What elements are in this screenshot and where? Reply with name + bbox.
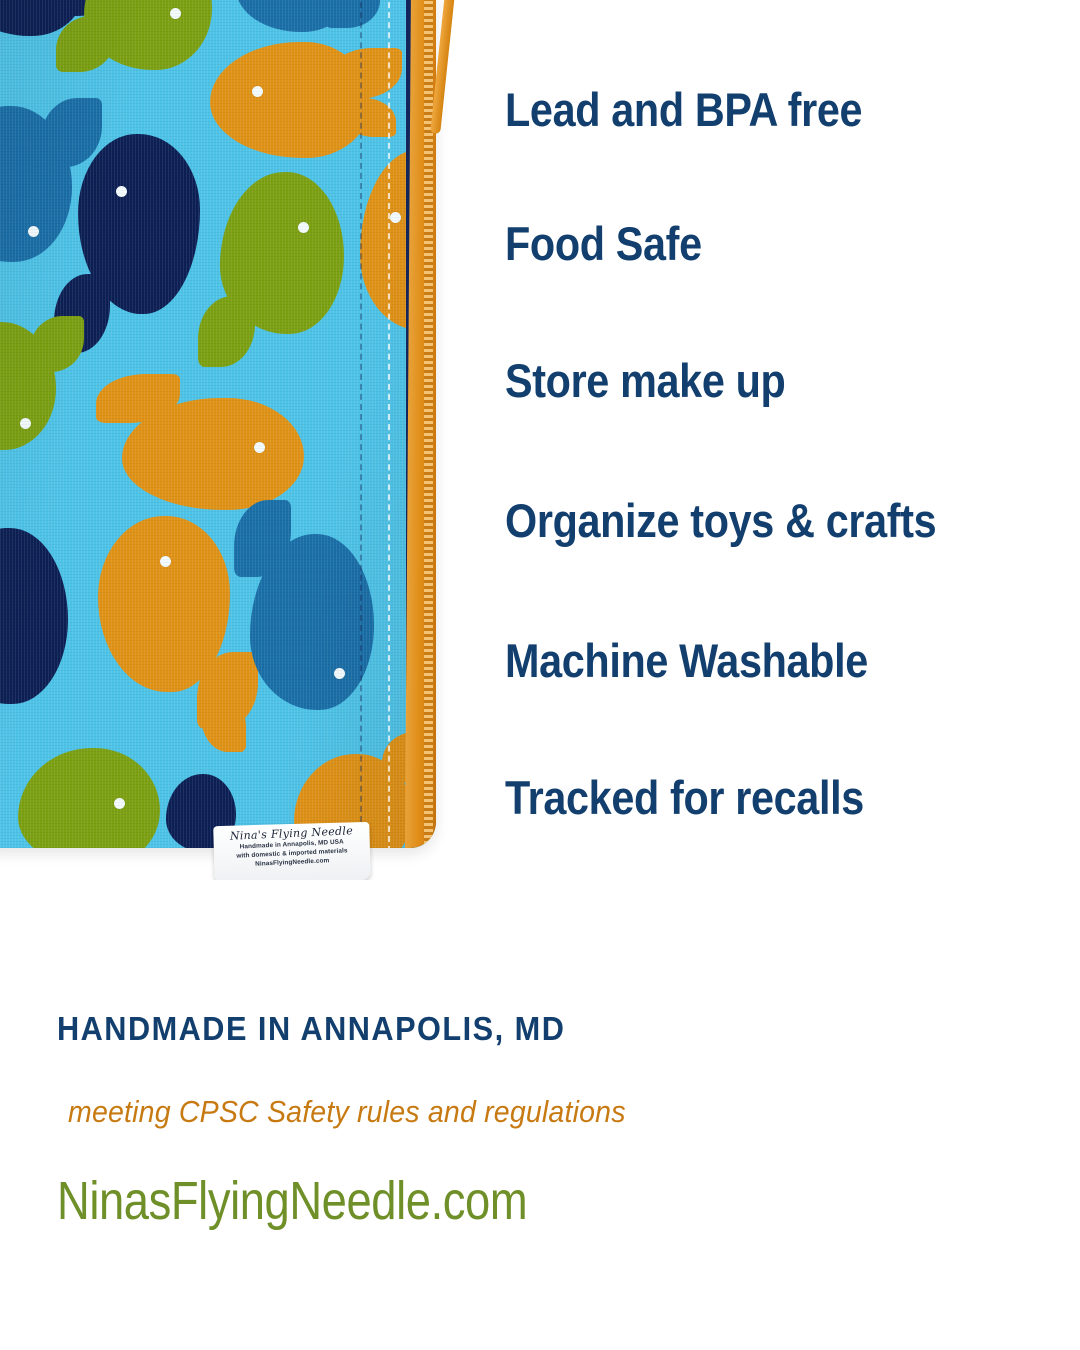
- benefit-item-food-safe: Food Safe: [505, 220, 702, 267]
- zipper-pouch-fabric: [0, 0, 436, 848]
- whale-icon: [210, 42, 370, 158]
- whale-icon: [0, 322, 56, 450]
- stitch-line: [388, 0, 390, 848]
- whale-icon: [250, 534, 374, 710]
- benefit-item-lead-bpa-free: Lead and BPA free: [505, 86, 862, 133]
- whale-icon: [236, 0, 356, 32]
- whale-icon: [0, 106, 72, 262]
- handmade-location-text: HANDMADE IN ANNAPOLIS, MD: [57, 1010, 565, 1048]
- whale-icon: [220, 172, 344, 334]
- benefit-list: Lead and BPA free Food Safe Store make u…: [505, 0, 1065, 880]
- benefit-item-tracked-for-recalls: Tracked for recalls: [505, 774, 864, 821]
- whale-icon: [84, 0, 212, 70]
- cpsc-compliance-tagline: meeting CPSC Safety rules and regulation…: [68, 1094, 626, 1130]
- whale-icon: [122, 398, 304, 510]
- whale-icon: [0, 528, 68, 704]
- brand-fabric-label: Nina's Flying Needle Handmade in Annapol…: [213, 822, 371, 880]
- whale-icon: [78, 134, 200, 314]
- benefit-item-machine-washable: Machine Washable: [505, 637, 868, 684]
- website-url[interactable]: NinasFlyingNeedle.com: [57, 1170, 527, 1232]
- whale-icon: [98, 516, 230, 692]
- stitch-line: [360, 0, 362, 848]
- benefit-item-store-make-up: Store make up: [505, 357, 785, 404]
- benefit-item-organize-toys-crafts: Organize toys & crafts: [505, 497, 936, 544]
- product-photo: Nina's Flying Needle Handmade in Annapol…: [0, 0, 472, 880]
- whale-icon: [18, 748, 160, 848]
